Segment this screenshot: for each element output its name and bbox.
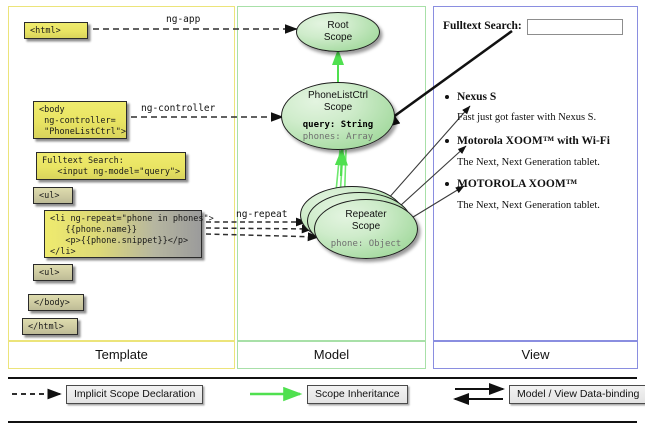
scope-repeater: RepeaterScope phone: Object [314, 199, 418, 259]
view-item-snippet: The Next, Next Generation tablet. [457, 157, 632, 168]
view-item-snippet: Fast just got faster with Nexus S. [457, 112, 632, 123]
bullet-icon [445, 182, 449, 186]
legend-item-scope-inheritance: Scope Inheritance [307, 385, 408, 404]
scope-prop-phones: phones: Array [303, 131, 373, 143]
view-search-label: Fulltext Search: [443, 20, 522, 32]
template-box-ul-open: <ul> [33, 187, 73, 204]
view-search-row: Fulltext Search: [443, 19, 623, 37]
column-label-model: Model [237, 341, 426, 369]
view-item-name: MOTOROLA XOOM™ [457, 178, 632, 190]
legend-item-model-view-data-binding: Model / View Data-binding [509, 385, 645, 404]
edge-label-ng-controller: ng-controller [141, 103, 215, 114]
view-list-item: Nexus S [457, 91, 632, 103]
legend: Implicit Scope Declaration Scope Inherit… [0, 379, 645, 425]
template-box-body-open: <body ng-controller= "PhoneListCtrl"> [33, 101, 127, 139]
view-list-item: MOTOROLA XOOM™ [457, 178, 632, 190]
view-item-snippet-wrap: The Next, Next Generation tablet. [457, 200, 632, 211]
column-label-template: Template [8, 341, 235, 369]
view-item-snippet: The Next, Next Generation tablet. [457, 200, 632, 211]
scope-phonelistctrl: PhoneListCtrlScope query: String phones:… [281, 82, 395, 150]
view-item-name: Nexus S [457, 91, 632, 103]
edge-label-ng-repeat: ng-repeat [236, 209, 287, 220]
scope-repeater-title: RepeaterScope [345, 209, 386, 233]
scope-prop-phone: phone: Object [331, 238, 401, 250]
view-item-snippet-wrap: Fast just got faster with Nexus S. [457, 112, 632, 123]
view-search-input[interactable] [527, 19, 623, 35]
template-box-ul-close: <ul> [33, 264, 73, 281]
scope-root: RootScope [296, 12, 380, 52]
template-box-body-close: </body> [28, 294, 84, 311]
view-list-item: Motorola XOOM™ with Wi-Fi [457, 135, 632, 147]
bullet-icon [445, 139, 449, 143]
view-item-snippet-wrap: The Next, Next Generation tablet. [457, 157, 632, 168]
legend-item-implicit-scope-declaration: Implicit Scope Declaration [66, 385, 203, 404]
view-item-name: Motorola XOOM™ with Wi-Fi [457, 135, 632, 147]
scope-prop-query: query: String [303, 119, 373, 131]
scope-root-title: RootScope [324, 20, 352, 44]
edge-label-ng-app: ng-app [166, 14, 200, 25]
template-box-html-close: </html> [22, 318, 78, 335]
bullet-icon [445, 95, 449, 99]
diagram-canvas: ng-app ng-controller ng-repeat <html> <b… [0, 0, 645, 425]
template-box-li-repeat: <li ng-repeat="phone in phones"> {{phone… [44, 210, 202, 258]
template-box-search-markup: Fulltext Search: <input ng-model="query"… [36, 152, 186, 180]
column-label-view: View [433, 341, 638, 369]
template-box-html-open: <html> [24, 22, 88, 39]
scope-phonelistctrl-title: PhoneListCtrlScope [308, 90, 368, 114]
